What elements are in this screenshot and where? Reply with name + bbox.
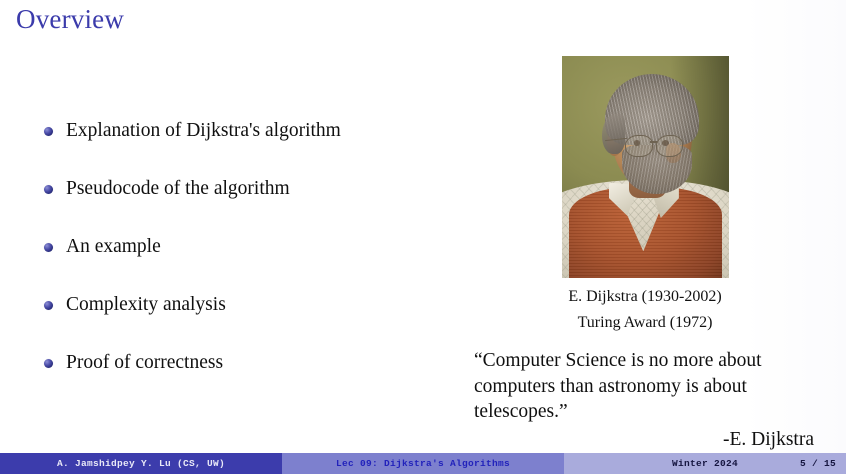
beamer-slide: Overview Explanation of Dijkstra's algor…: [0, 0, 846, 474]
caption-line-award: Turing Award (1972): [505, 310, 785, 336]
list-item-label: An example: [66, 234, 161, 260]
list-item-label: Pseudocode of the algorithm: [66, 176, 290, 202]
photo-hair-side: [602, 114, 625, 154]
footer-lecture-title: Lec 09: Dijkstra's Algorithms: [282, 453, 564, 474]
photo-glasses-bridge: [650, 141, 658, 143]
list-item-label: Proof of correctness: [66, 350, 223, 376]
quote-block: “Computer Science is no more about compu…: [474, 348, 822, 453]
bullet-sphere-icon: [44, 243, 53, 252]
list-item: Pseudocode of the algorithm: [44, 176, 484, 234]
list-item-label: Complexity analysis: [66, 292, 226, 318]
list-item: Complexity analysis: [44, 292, 484, 350]
dijkstra-portrait-image: [562, 56, 729, 278]
photo-glasses-lens-right: [656, 135, 683, 157]
quote-attribution: -E. Dijkstra: [474, 427, 822, 453]
footer-right-section: Winter 2024 5 / 15: [564, 453, 846, 474]
page-title: Overview: [16, 4, 124, 35]
photo-glasses-lens-left: [625, 135, 652, 157]
bullet-sphere-icon: [44, 185, 53, 194]
bullet-sphere-icon: [44, 127, 53, 136]
list-item: Proof of correctness: [44, 350, 484, 408]
list-item: An example: [44, 234, 484, 292]
overview-bullet-list: Explanation of Dijkstra's algorithm Pseu…: [44, 118, 484, 408]
footer-term: Winter 2024: [672, 458, 738, 469]
portrait-caption: E. Dijkstra (1930-2002) Turing Award (19…: [505, 284, 785, 336]
footer-page-number: 5 / 15: [800, 458, 836, 469]
footer-authors: A. Jamshidpey Y. Lu (CS, UW): [0, 453, 282, 474]
bullet-sphere-icon: [44, 301, 53, 310]
list-item: Explanation of Dijkstra's algorithm: [44, 118, 484, 176]
slide-footer-bar: A. Jamshidpey Y. Lu (CS, UW) Lec 09: Dij…: [0, 453, 846, 474]
portrait-figure: [562, 56, 729, 278]
list-item-label: Explanation of Dijkstra's algorithm: [66, 118, 341, 144]
quote-text: “Computer Science is no more about compu…: [474, 348, 822, 425]
bullet-sphere-icon: [44, 359, 53, 368]
caption-line-name: E. Dijkstra (1930-2002): [505, 284, 785, 310]
